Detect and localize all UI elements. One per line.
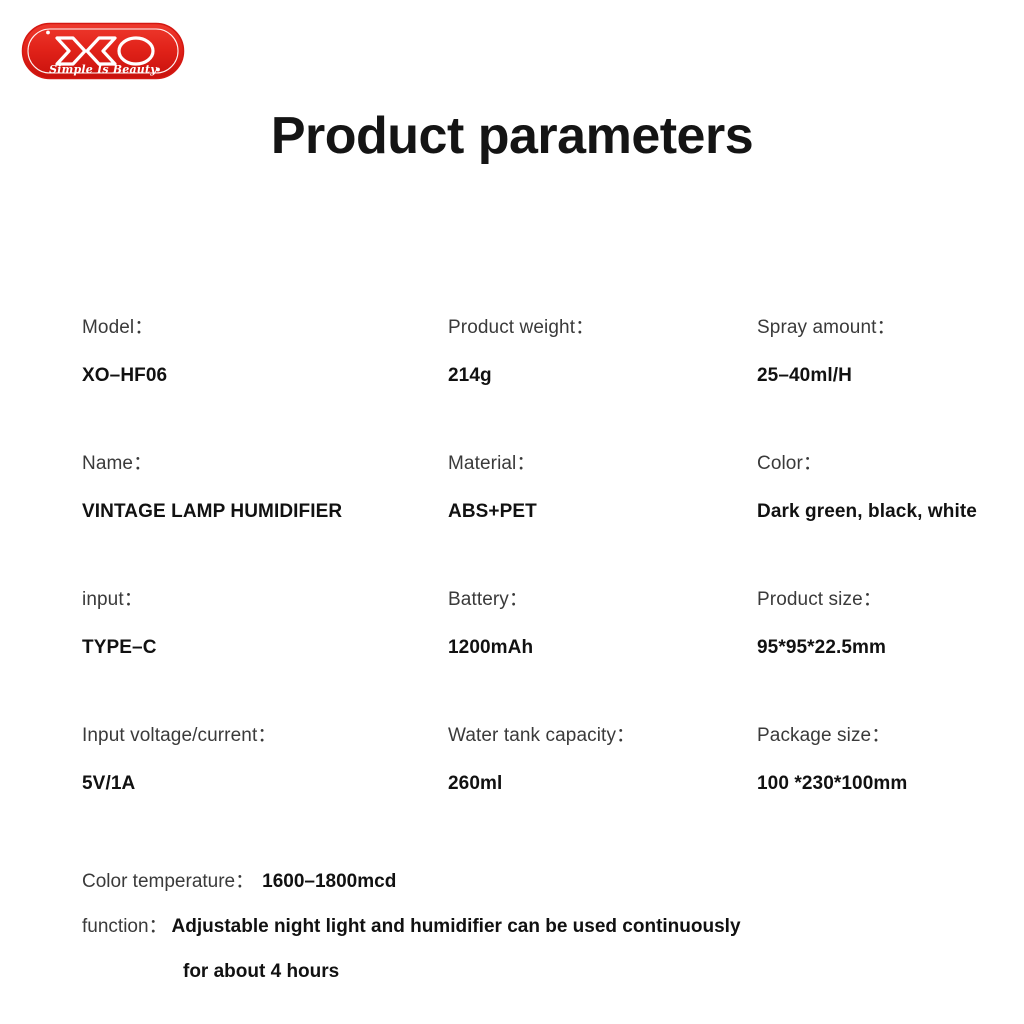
spec-cell-input: input： TYPE–C <box>82 590 157 657</box>
spec-label: Input voltage/current： <box>82 726 276 745</box>
spec-value: 25–40ml/H <box>757 366 896 385</box>
spec-label: Product size： <box>757 590 886 609</box>
spec-label: Material： <box>448 454 537 473</box>
spec-label: Water tank capacity： <box>448 726 635 745</box>
spec-value: Dark green, black, white <box>757 502 977 521</box>
spec-cell-battery: Battery： 1200mAh <box>448 590 533 657</box>
spec-value: 1200mAh <box>448 638 533 657</box>
spec-value: 95*95*22.5mm <box>757 638 886 657</box>
spec-cell-input-voltage-current: Input voltage/current： 5V/1A <box>82 726 276 793</box>
spec-row: Name： VINTAGE LAMP HUMIDIFIER Material： … <box>82 454 962 590</box>
note-function-line2: for about 4 hours <box>183 962 982 981</box>
spec-value: 214g <box>448 366 594 385</box>
spec-label: Product weight： <box>448 318 594 337</box>
spec-label: Package size： <box>757 726 907 745</box>
spec-label: input： <box>82 590 157 609</box>
spec-label: Battery： <box>448 590 533 609</box>
spec-cell-water-tank-capacity: Water tank capacity： 260ml <box>448 726 635 793</box>
spec-label: Spray amount： <box>757 318 896 337</box>
spec-label: Color： <box>757 454 977 473</box>
spec-value: TYPE–C <box>82 638 157 657</box>
note-label: Color temperature： <box>82 871 254 892</box>
spec-label: Model： <box>82 318 167 337</box>
spec-cell-product-size: Product size： 95*95*22.5mm <box>757 590 886 657</box>
spec-value: ABS+PET <box>448 502 537 521</box>
spec-cell-name: Name： VINTAGE LAMP HUMIDIFIER <box>82 454 342 521</box>
note-label: function： <box>82 916 168 937</box>
spec-label: Name： <box>82 454 342 473</box>
spec-grid: Model： XO–HF06 Product weight： 214g Spra… <box>82 318 962 862</box>
note-value: 1600–1800mcd <box>262 871 396 892</box>
svg-text:Simple Is Beauty: Simple Is Beauty <box>49 63 158 76</box>
spec-value: 100 *230*100mm <box>757 774 907 793</box>
note-color-temperature: Color temperature：1600–1800mcd <box>82 872 982 891</box>
spec-cell-model: Model： XO–HF06 <box>82 318 167 385</box>
spec-cell-product-weight: Product weight： 214g <box>448 318 594 385</box>
spec-value: 5V/1A <box>82 774 276 793</box>
spec-value: XO–HF06 <box>82 366 167 385</box>
spec-cell-material: Material： ABS+PET <box>448 454 537 521</box>
spec-value: 260ml <box>448 774 635 793</box>
notes-section: Color temperature：1600–1800mcd function：… <box>82 872 982 981</box>
spec-cell-spray-amount: Spray amount： 25–40ml/H <box>757 318 896 385</box>
xo-logo: Simple Is Beauty <box>21 22 185 80</box>
spec-value: VINTAGE LAMP HUMIDIFIER <box>82 502 342 521</box>
page-title: Product parameters <box>0 106 1024 166</box>
spec-row: Model： XO–HF06 Product weight： 214g Spra… <box>82 318 962 454</box>
spec-cell-package-size: Package size： 100 *230*100mm <box>757 726 907 793</box>
note-function: function：Adjustable night light and humi… <box>82 917 982 936</box>
note-value: Adjustable night light and humidifier ca… <box>172 916 741 937</box>
spec-row: input： TYPE–C Battery： 1200mAh Product s… <box>82 590 962 726</box>
spec-cell-color: Color： Dark green, black, white <box>757 454 977 521</box>
spec-row: Input voltage/current： 5V/1A Water tank … <box>82 726 962 862</box>
